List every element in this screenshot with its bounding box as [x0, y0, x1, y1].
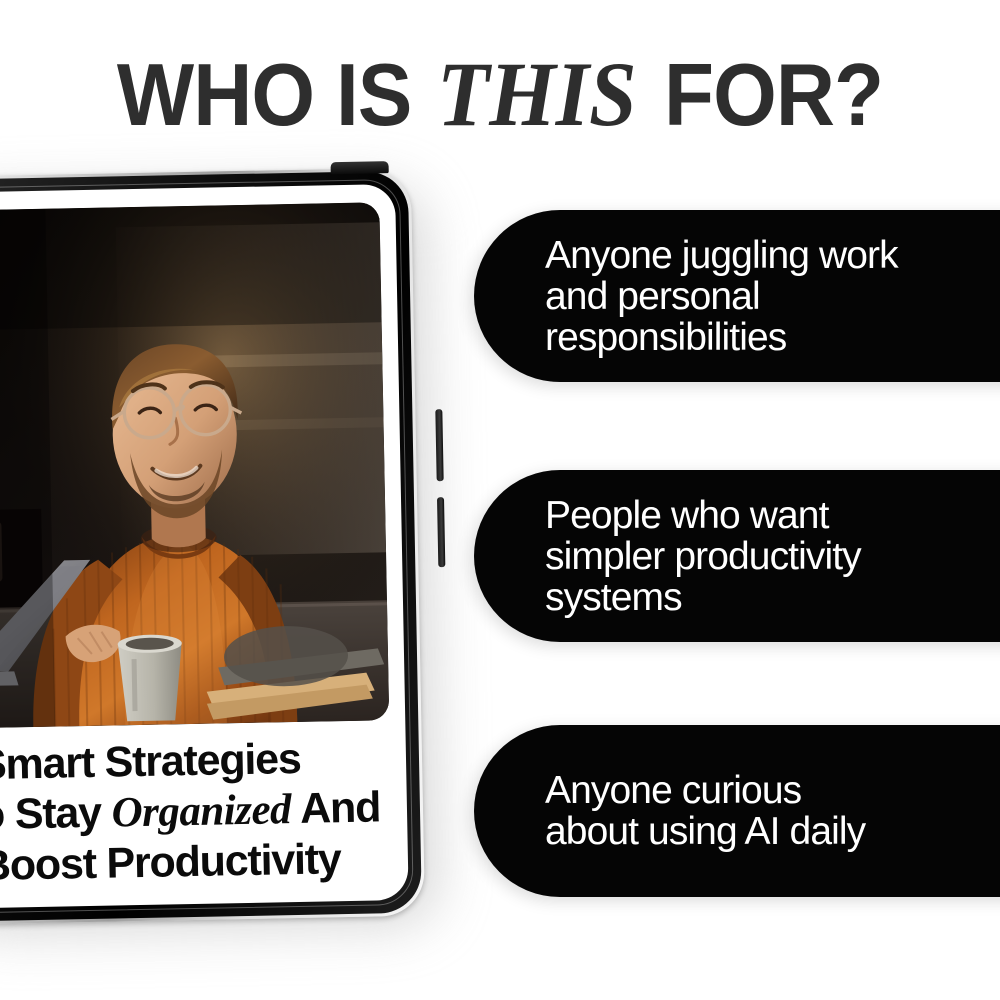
audience-pill-1-text: Anyone juggling work and personal respon…	[474, 235, 918, 358]
pill-2-line-2: simpler productivity	[545, 536, 861, 577]
pill-2-line-1: People who want	[545, 495, 861, 536]
caption-line-2-post: And	[291, 783, 381, 833]
pill-1-line-1: Anyone juggling work	[545, 235, 898, 276]
audience-pill-3-text: Anyone curious about using AI daily	[474, 770, 885, 852]
slide-canvas: WHO IS THIS FOR?	[0, 0, 1000, 1000]
caption-line-2: o Stay Organized And	[0, 782, 393, 841]
volume-up-button[interactable]	[435, 409, 443, 481]
audience-pill-2[interactable]: People who want simpler productivity sys…	[474, 470, 1000, 642]
screen-photo	[0, 202, 389, 728]
audience-pill-3[interactable]: Anyone curious about using AI daily	[474, 725, 1000, 897]
photo-man-at-laptop	[0, 202, 389, 728]
camera-icon	[331, 161, 389, 174]
screen-caption: Smart Strategies o Stay Organized And Bo…	[0, 732, 408, 892]
page-title-part1: WHO IS	[117, 45, 433, 144]
pill-1-line-2: and personal	[545, 276, 898, 317]
caption-line-2-pre: o Stay	[0, 789, 112, 840]
caption-line-2-emphasis: Organized	[111, 786, 291, 836]
caption-line-1: Smart Strategies	[0, 732, 392, 790]
page-title: WHO IS THIS FOR?	[35, 47, 965, 142]
pill-2-line-3: systems	[545, 577, 861, 618]
caption-line-3: Boost Productivity	[0, 833, 394, 891]
volume-down-button[interactable]	[437, 497, 445, 567]
page-title-emphasis: THIS	[433, 43, 642, 145]
device-screen: Smart Strategies o Stay Organized And Bo…	[0, 184, 409, 908]
tablet-device-mockup: Smart Strategies o Stay Organized And Bo…	[0, 167, 447, 936]
pill-3-line-2: about using AI daily	[545, 811, 865, 852]
audience-pill-2-text: People who want simpler productivity sys…	[474, 495, 881, 618]
pill-1-line-3: responsibilities	[545, 317, 898, 358]
audience-pill-1[interactable]: Anyone juggling work and personal respon…	[474, 210, 1000, 382]
pill-3-line-1: Anyone curious	[545, 770, 865, 811]
page-title-part2: FOR?	[642, 45, 883, 144]
